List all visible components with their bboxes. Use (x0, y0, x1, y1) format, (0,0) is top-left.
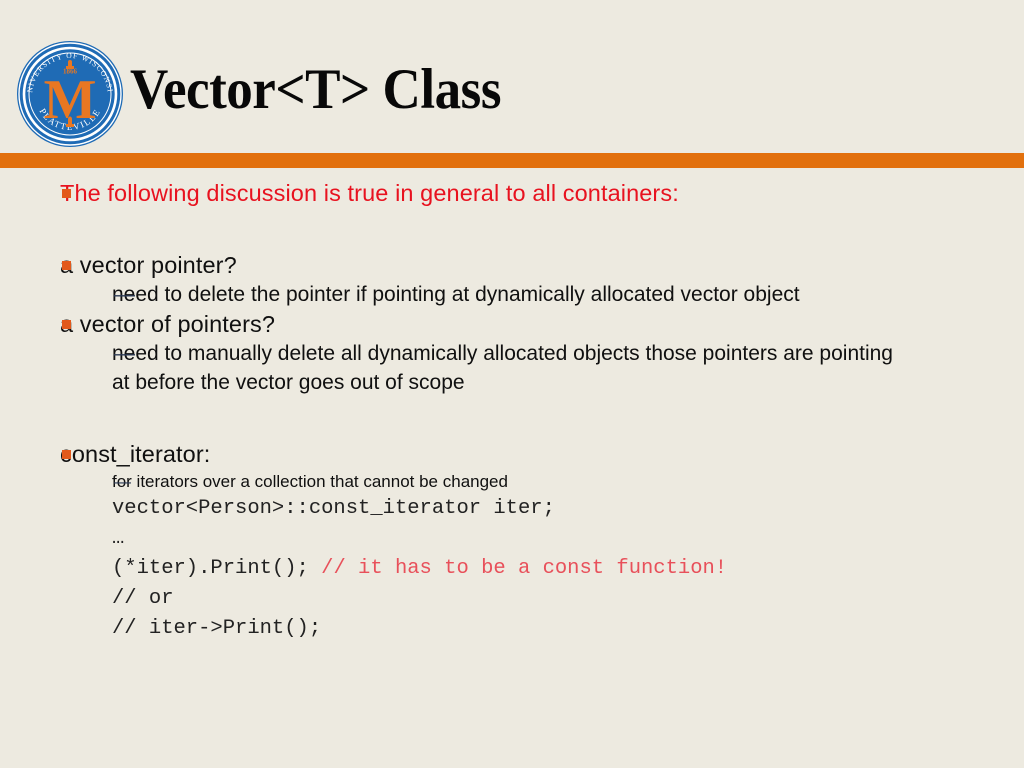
bullet-item: The following discussion is true in gene… (0, 178, 1024, 208)
square-bullet-icon (62, 320, 71, 329)
slide-body: The following discussion is true in gene… (0, 178, 1024, 768)
bullet-text: const_iterator: (60, 439, 210, 469)
square-bullet-icon (62, 189, 71, 198)
bullet-item: a vector pointer? (0, 250, 1024, 280)
dash-bullet-icon: — (114, 339, 138, 368)
sub-bullet-item: — need to manually delete all dynamicall… (0, 339, 1024, 397)
dash-bullet-icon: — (114, 469, 138, 494)
bullet-text: a vector of pointers? (60, 309, 275, 339)
bullet-item: const_iterator: (0, 439, 1024, 469)
bullet-text: a vector pointer? (60, 250, 237, 280)
sub-bullet-text: need to delete the pointer if pointing a… (112, 280, 800, 309)
code-line: … (0, 524, 1024, 554)
square-bullet-icon (62, 450, 71, 459)
spacer (0, 208, 1024, 232)
slide-header: UNIVERSITY OF WISCONSIN PLATTEVILLE 1866… (0, 0, 1024, 153)
bullet-text: The following discussion is true in gene… (60, 178, 679, 208)
sub-bullet-item: — need to delete the pointer if pointing… (0, 280, 1024, 309)
code-comment: // it has to be a const function! (321, 557, 727, 580)
seal-icon: UNIVERSITY OF WISCONSIN PLATTEVILLE 1866… (16, 40, 124, 148)
page-title: Vector<T> Class (130, 57, 501, 123)
accent-rule-bar (0, 153, 1024, 168)
code-line: // or (0, 584, 1024, 614)
code-text: vector<Person>::const_iterator iter; (112, 497, 555, 520)
bullet-item: a vector of pointers? (0, 309, 1024, 339)
dash-bullet-icon: — (114, 280, 138, 309)
spacer (0, 397, 1024, 421)
sub-bullet-text: for iterators over a collection that can… (112, 469, 508, 494)
uw-platteville-seal-logo: UNIVERSITY OF WISCONSIN PLATTEVILLE 1866… (16, 40, 124, 148)
square-bullet-icon (62, 261, 71, 270)
code-text: (*iter).Print(); (112, 557, 321, 580)
spacer (0, 232, 1024, 250)
code-text: // or (112, 587, 174, 610)
code-line: // iter->Print(); (0, 614, 1024, 644)
code-text: // iter->Print(); (112, 617, 321, 640)
sub-bullet-text: need to manually delete all dynamically … (112, 339, 912, 397)
code-ellipsis: … (112, 527, 124, 550)
spacer (0, 421, 1024, 439)
sub-bullet-item: — for iterators over a collection that c… (0, 469, 1024, 494)
code-line: vector<Person>::const_iterator iter; (0, 494, 1024, 524)
slide-canvas: UNIVERSITY OF WISCONSIN PLATTEVILLE 1866… (0, 0, 1024, 768)
code-line: (*iter).Print(); // it has to be a const… (0, 554, 1024, 584)
